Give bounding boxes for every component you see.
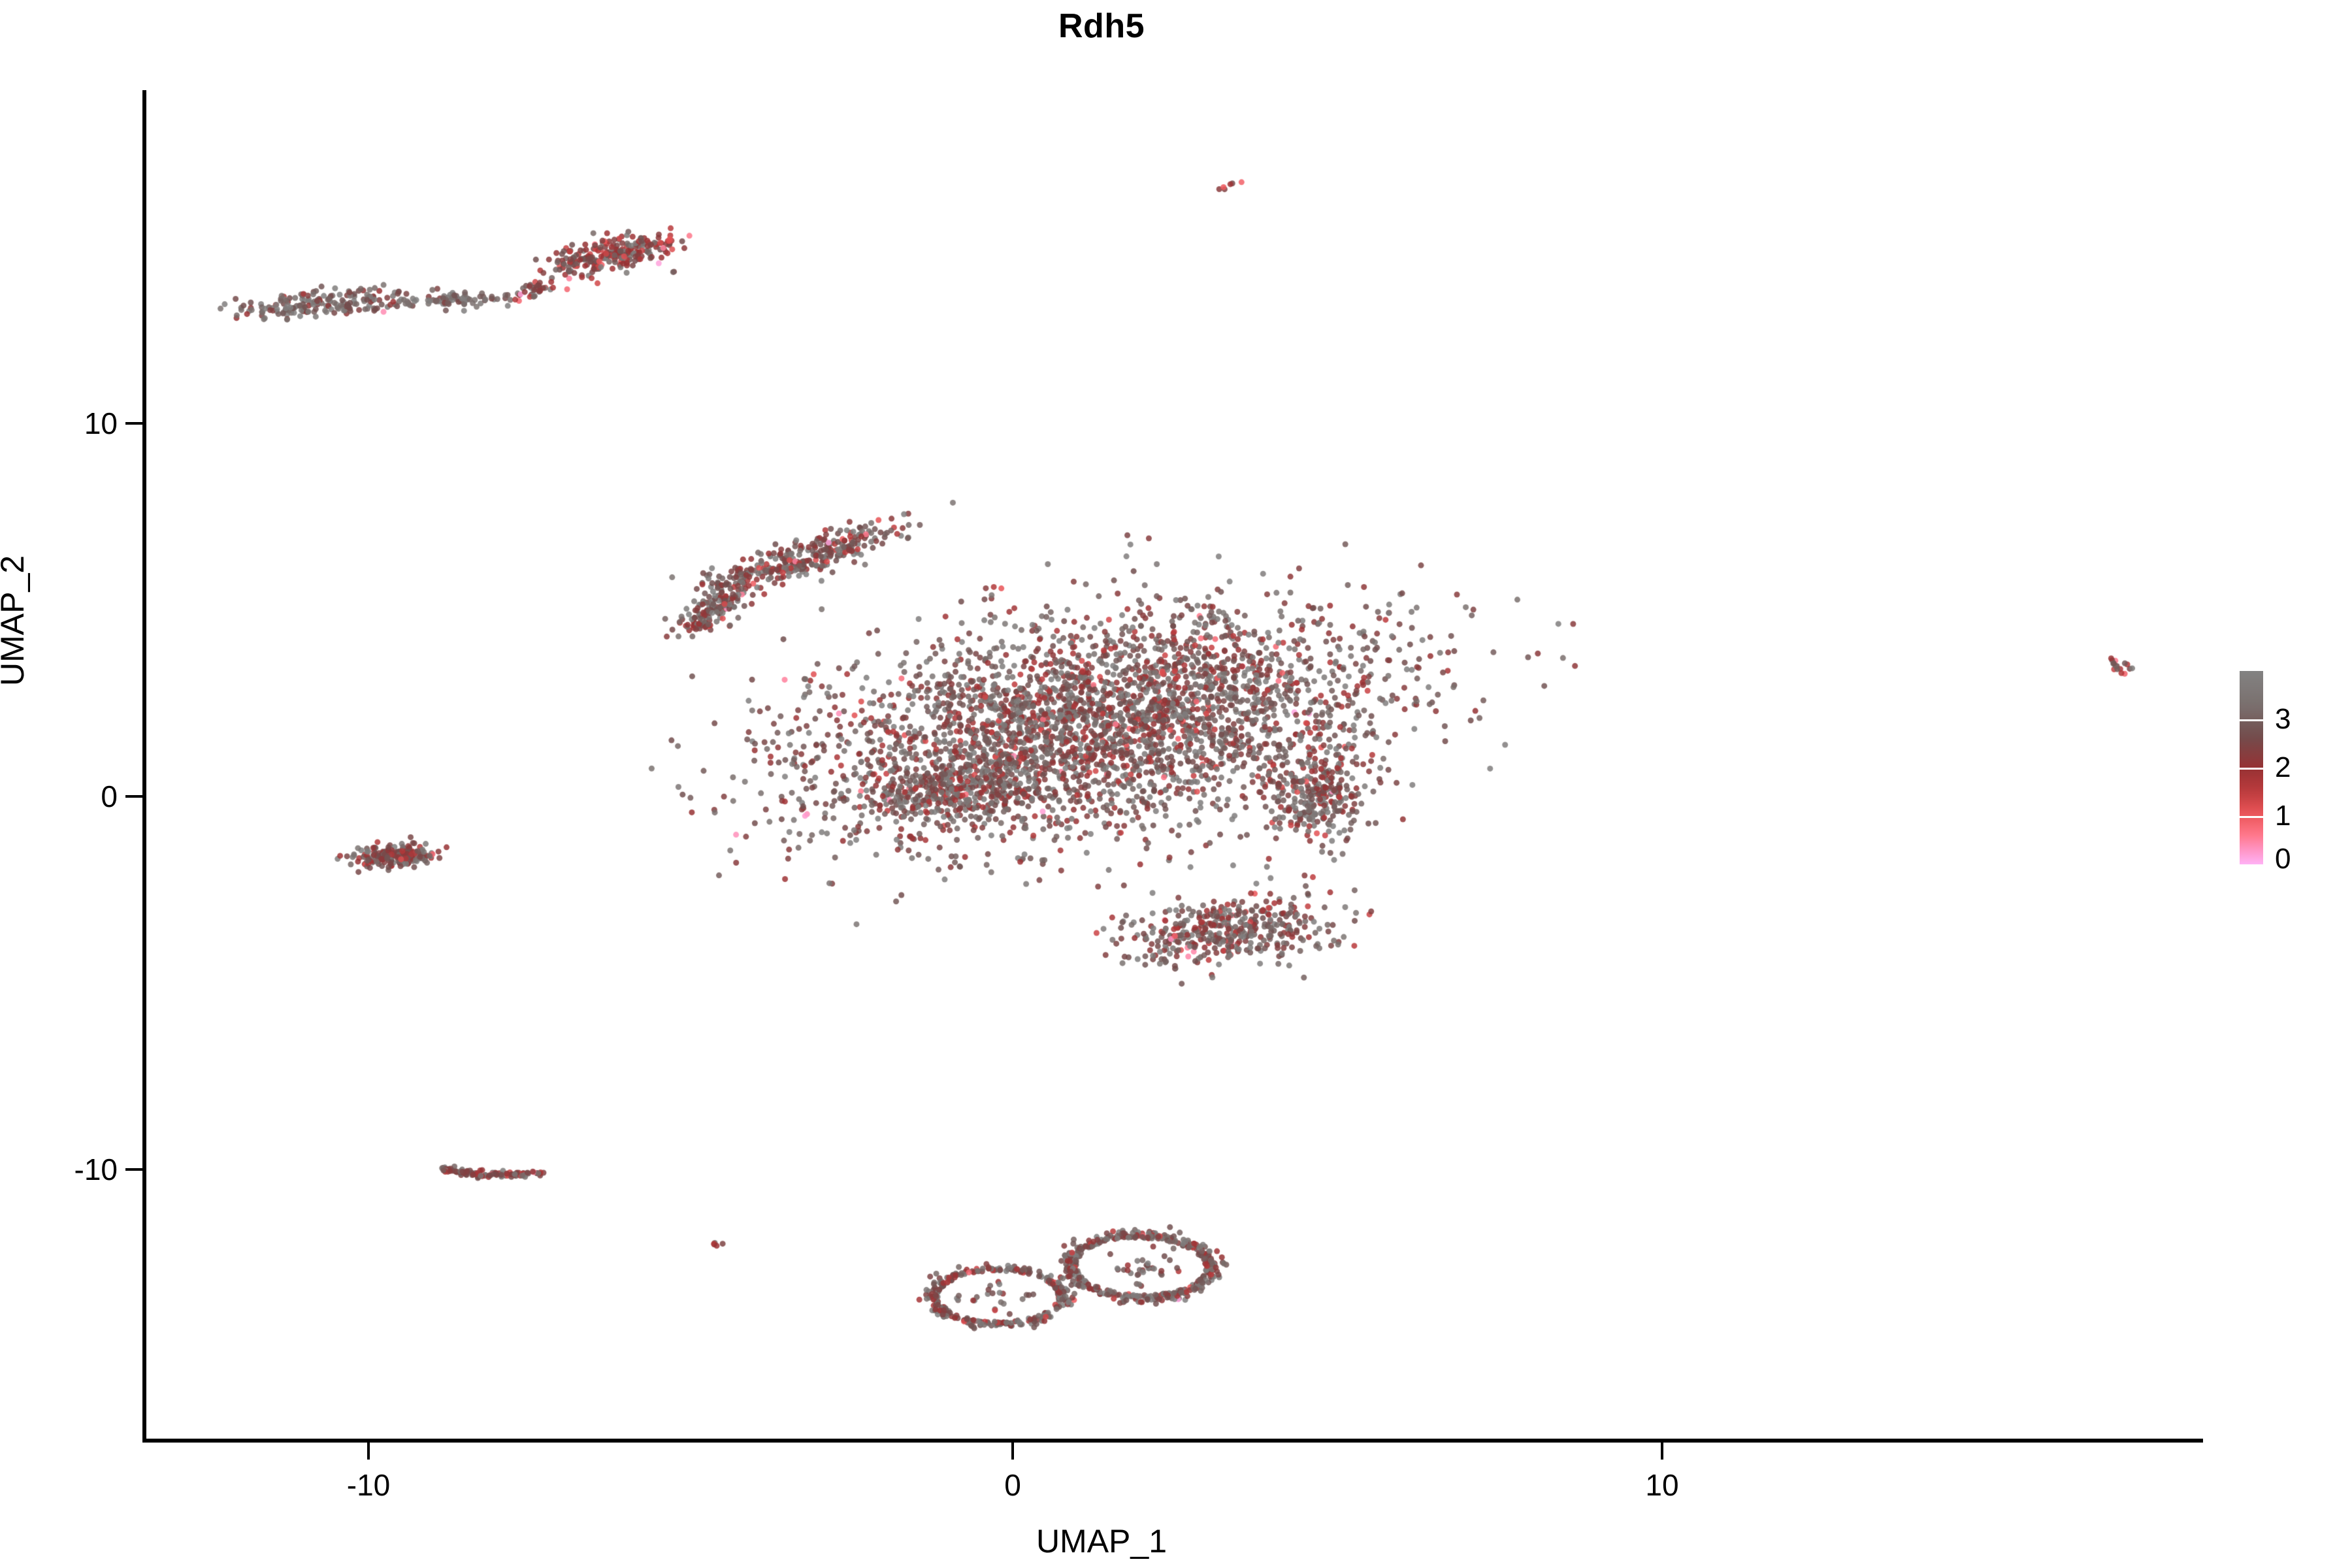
x-tick-label: 0 xyxy=(1004,1467,1021,1503)
colorbar-label-0: 0 xyxy=(2275,843,2291,875)
colorbar-label-2: 2 xyxy=(2275,751,2291,784)
x-tick-mark xyxy=(1661,1443,1663,1460)
x-tick-label: 10 xyxy=(1645,1467,1678,1503)
colorbar-tick xyxy=(2240,816,2263,818)
y-axis-line xyxy=(142,90,146,1443)
y-tick-label: 10 xyxy=(84,406,118,441)
colorbar-tick xyxy=(2240,719,2263,721)
colorbar-tick xyxy=(2240,768,2263,770)
x-axis-line xyxy=(142,1439,2203,1443)
x-tick-mark xyxy=(1011,1443,1014,1460)
colorbar-legend: 3 2 1 0 xyxy=(2240,671,2344,867)
scatter-canvas xyxy=(0,0,2352,1568)
x-axis-title: UMAP_1 xyxy=(0,1522,2203,1560)
y-tick-label: -10 xyxy=(74,1152,118,1187)
x-tick-mark xyxy=(367,1443,370,1460)
y-tick-label: 0 xyxy=(101,779,118,814)
colorbar-label-3: 3 xyxy=(2275,703,2291,736)
colorbar-label-1: 1 xyxy=(2275,800,2291,832)
umap-feature-plot: Rdh5 -10 0 10 10 0 -10 UMAP_1 UMAP_2 3 2… xyxy=(0,0,2352,1568)
y-tick-mark xyxy=(125,422,142,425)
y-axis-title: UMAP_2 xyxy=(0,555,31,686)
y-tick-mark xyxy=(125,1168,142,1171)
y-tick-mark xyxy=(125,795,142,798)
x-tick-label: -10 xyxy=(347,1467,390,1503)
